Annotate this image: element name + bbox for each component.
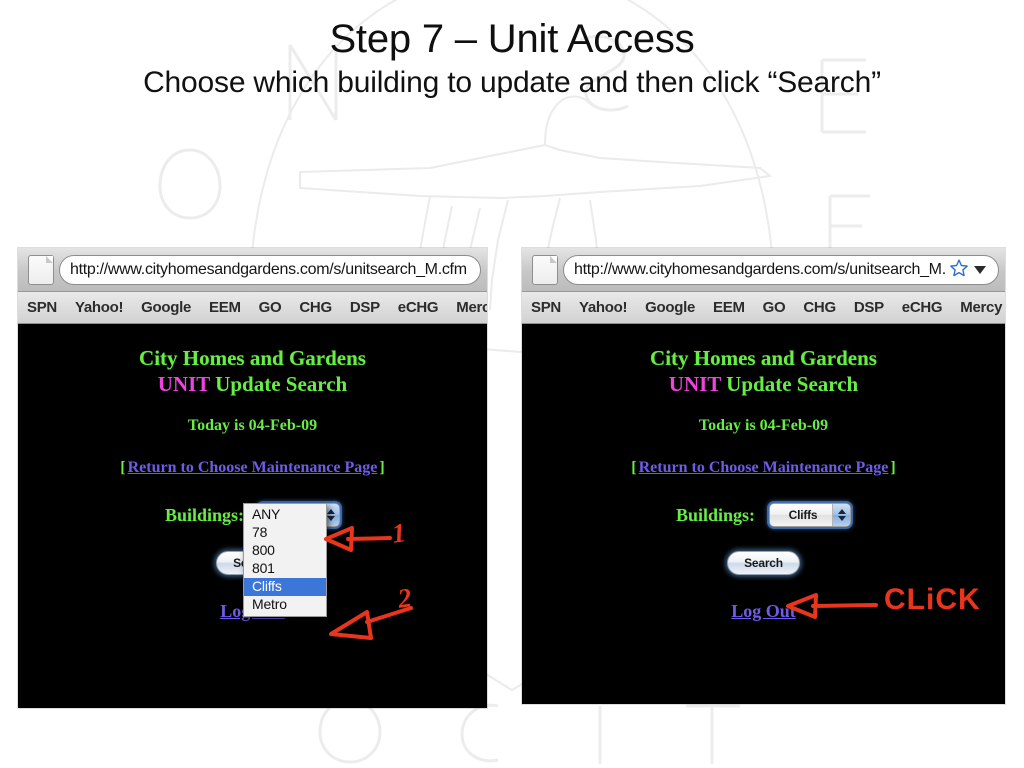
site-title-line1: City Homes and Gardens	[522, 324, 1005, 372]
bookmark-espn[interactable]: SPN	[522, 299, 570, 316]
search-button[interactable]: Search	[727, 551, 800, 575]
slide-header: Step 7 – Unit Access Choose which buildi…	[0, 18, 1024, 99]
page-icon	[532, 255, 558, 285]
site-title-line1: City Homes and Gardens	[18, 324, 487, 372]
dropdown-option-any[interactable]: ANY	[244, 506, 326, 524]
address-bar-right: http://www.cityhomesandgardens.com/s/uni…	[522, 248, 1005, 292]
bookmark-google[interactable]: Google	[636, 299, 704, 316]
buildings-form-row-right: Buildings: Cliffs	[522, 503, 1005, 527]
bookmark-dsp[interactable]: DSP	[845, 299, 893, 316]
unit-keyword: UNIT	[158, 372, 210, 396]
bookmark-mercy[interactable]: Mercy	[447, 299, 487, 316]
update-search-text: Update Search	[721, 372, 858, 396]
browser-screenshot-right: http://www.cityhomesandgardens.com/s/uni…	[522, 248, 1005, 704]
dropdown-option-800[interactable]: 800	[244, 542, 326, 560]
return-to-maintenance-link[interactable]: Return to Choose Maintenance Page	[637, 459, 891, 476]
stepper-up-arrow	[838, 509, 846, 514]
return-link-row: [Return to Choose Maintenance Page]	[18, 459, 487, 477]
buildings-label: Buildings:	[165, 505, 244, 526]
bookmark-yahoo[interactable]: Yahoo!	[570, 299, 636, 316]
url-input-right[interactable]: http://www.cityhomesandgardens.com/s/uni…	[563, 255, 999, 285]
bookmark-eem[interactable]: EEM	[704, 299, 754, 316]
bookmark-chg[interactable]: CHG	[794, 299, 844, 316]
slide-subtitle: Choose which building to update and then…	[0, 66, 1024, 99]
bookmark-mercy[interactable]: Mercy	[951, 299, 1005, 316]
stepper-down-arrow	[327, 516, 335, 521]
chevron-down-icon[interactable]	[974, 266, 986, 274]
buildings-dropdown-menu[interactable]: ANY 78 800 801 Cliffs Metro	[243, 503, 327, 617]
url-input-left[interactable]: http://www.cityhomesandgardens.com/s/uni…	[59, 255, 481, 285]
return-link-row: [Return to Choose Maintenance Page]	[522, 459, 1005, 477]
bookmark-echg[interactable]: eCHG	[893, 299, 951, 316]
bookmark-espn[interactable]: SPN	[18, 299, 66, 316]
dropdown-option-801[interactable]: 801	[244, 560, 326, 578]
bookmark-yahoo[interactable]: Yahoo!	[66, 299, 132, 316]
buildings-label: Buildings:	[676, 505, 755, 526]
bracket-close: ]	[379, 459, 384, 476]
buildings-select-value: Cliffs	[770, 508, 832, 522]
bookmark-dsp[interactable]: DSP	[341, 299, 389, 316]
bookmark-chg[interactable]: CHG	[290, 299, 340, 316]
bookmark-go[interactable]: GO	[754, 299, 795, 316]
site-title-line2: UNIT Update Search	[522, 372, 1005, 398]
bracket-open: [	[120, 459, 125, 476]
return-to-maintenance-link[interactable]: Return to Choose Maintenance Page	[126, 459, 380, 476]
bookmarks-bar-left: SPN Yahoo! Google EEM GO CHG DSP eCHG Me…	[18, 292, 487, 324]
site-title-line2: UNIT Update Search	[18, 372, 487, 398]
today-date-line: Today is 04-Feb-09	[522, 417, 1005, 435]
bracket-open: [	[631, 459, 636, 476]
address-bar-left: http://www.cityhomesandgardens.com/s/uni…	[18, 248, 487, 292]
browser-screenshot-left: http://www.cityhomesandgardens.com/s/uni…	[18, 248, 487, 708]
web-page-right: City Homes and Gardens UNIT Update Searc…	[522, 324, 1005, 703]
slide-title: Step 7 – Unit Access	[0, 18, 1024, 60]
star-bookmark-icon[interactable]	[949, 258, 969, 282]
bookmarks-bar-right: SPN Yahoo! Google EEM GO CHG DSP eCHG Me…	[522, 292, 1005, 324]
dropdown-option-cliffs[interactable]: Cliffs	[244, 578, 326, 596]
logout-row-right: Log Out	[522, 601, 1005, 622]
dropdown-option-metro[interactable]: Metro	[244, 596, 326, 614]
bracket-close: ]	[890, 459, 895, 476]
bookmark-go[interactable]: GO	[250, 299, 291, 316]
web-page-left: City Homes and Gardens UNIT Update Searc…	[18, 324, 487, 707]
stepper-down-arrow	[838, 516, 846, 521]
dropdown-option-78[interactable]: 78	[244, 524, 326, 542]
today-date-line: Today is 04-Feb-09	[18, 417, 487, 435]
updown-stepper-icon[interactable]	[832, 504, 850, 526]
search-button-row-right: Search	[522, 551, 1005, 575]
stepper-up-arrow	[327, 509, 335, 514]
buildings-select-right[interactable]: Cliffs	[769, 503, 851, 527]
url-text: http://www.cityhomesandgardens.com/s/uni…	[574, 261, 945, 279]
bookmark-echg[interactable]: eCHG	[389, 299, 447, 316]
update-search-text: Update Search	[210, 372, 347, 396]
bookmark-eem[interactable]: EEM	[200, 299, 250, 316]
page-icon	[28, 255, 54, 285]
url-text: http://www.cityhomesandgardens.com/s/uni…	[70, 261, 470, 279]
unit-keyword: UNIT	[669, 372, 721, 396]
bookmark-google[interactable]: Google	[132, 299, 200, 316]
logout-link[interactable]: Log Out	[731, 601, 796, 621]
